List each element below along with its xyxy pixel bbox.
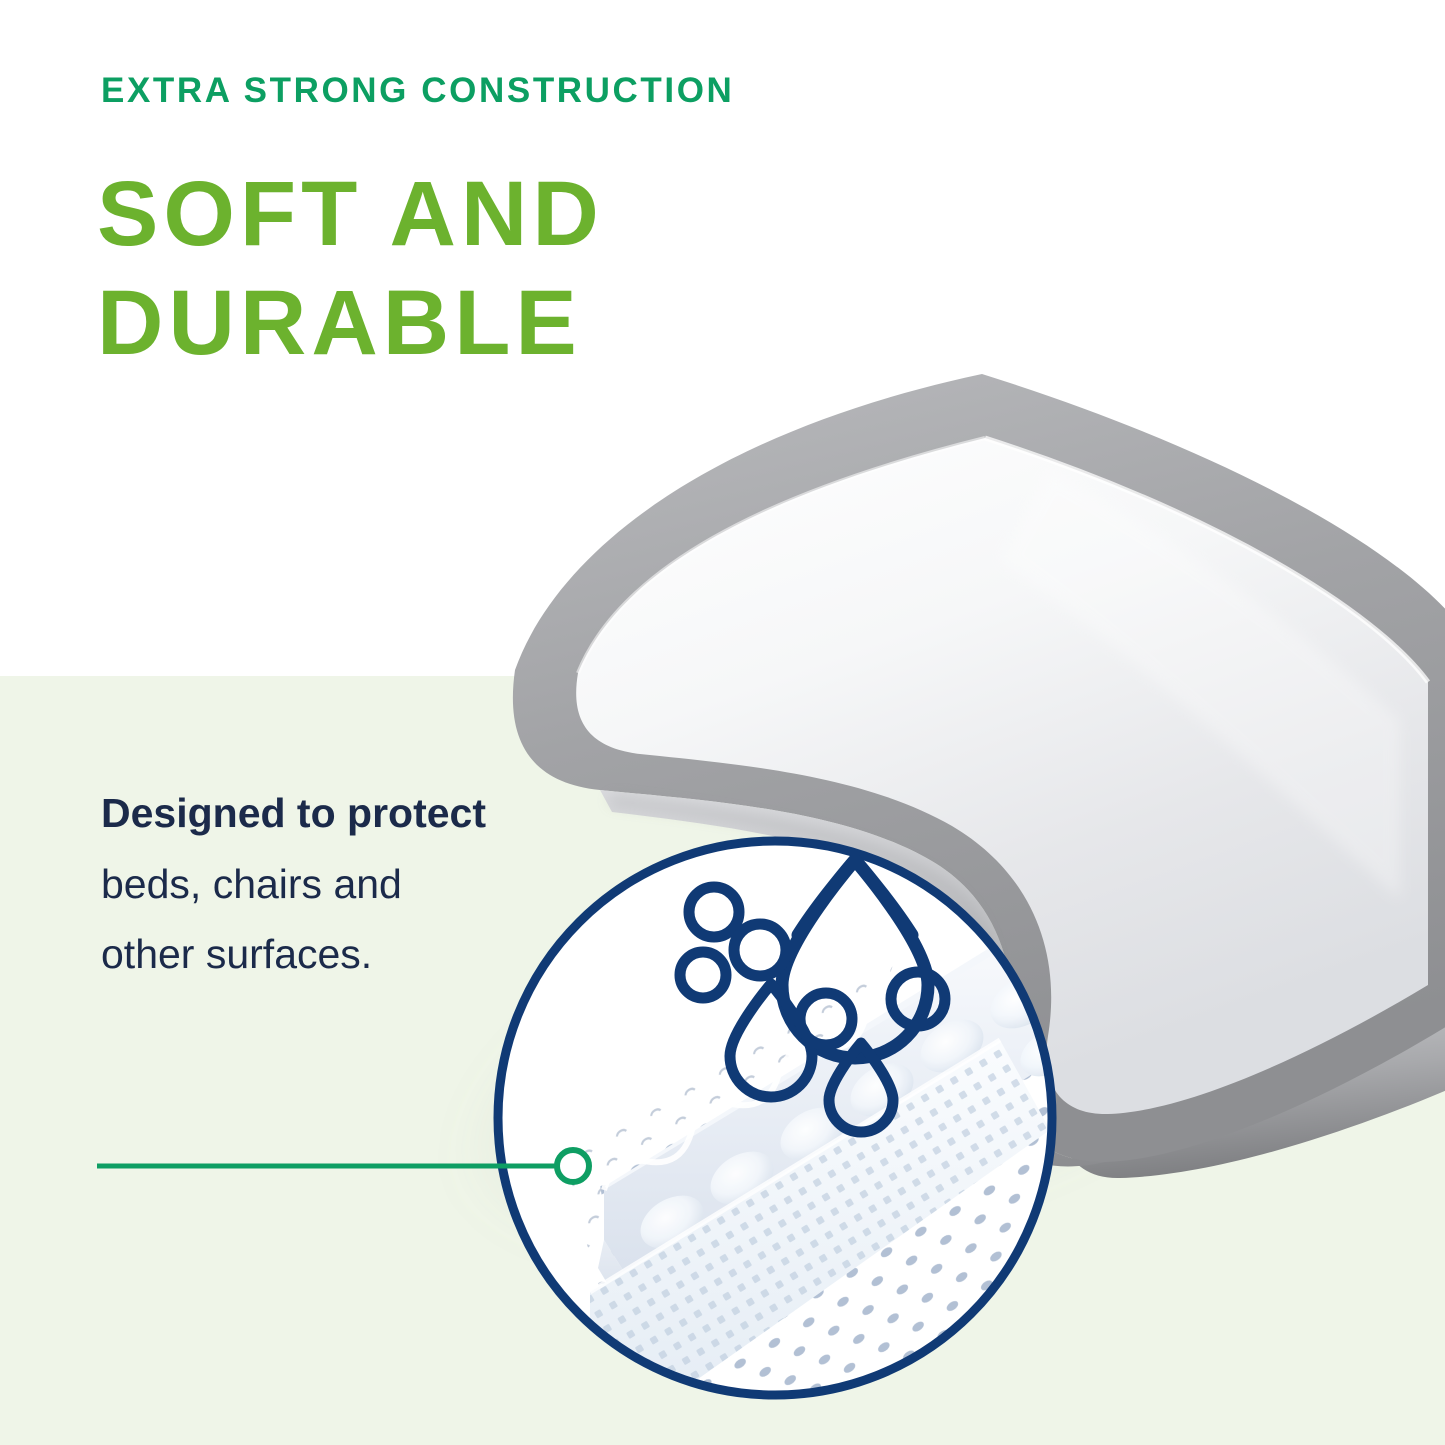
body-bold-lead: Designed to <box>101 790 336 836</box>
body-rest: beds, chairs and other surfaces. <box>101 861 402 978</box>
body-copy: Designed to protect beds, chairs and oth… <box>101 778 501 990</box>
headline-line-1: SOFT AND <box>97 160 797 269</box>
headline-line-2: DURABLE <box>97 269 797 378</box>
page-title: SOFT AND DURABLE <box>97 160 797 377</box>
body-bold-emphasis: protect <box>347 790 486 836</box>
marketing-image-canvas: EXTRA STRONG CONSTRUCTION SOFT AND DURAB… <box>0 0 1445 1445</box>
eyebrow-text: EXTRA STRONG CONSTRUCTION <box>101 72 734 111</box>
